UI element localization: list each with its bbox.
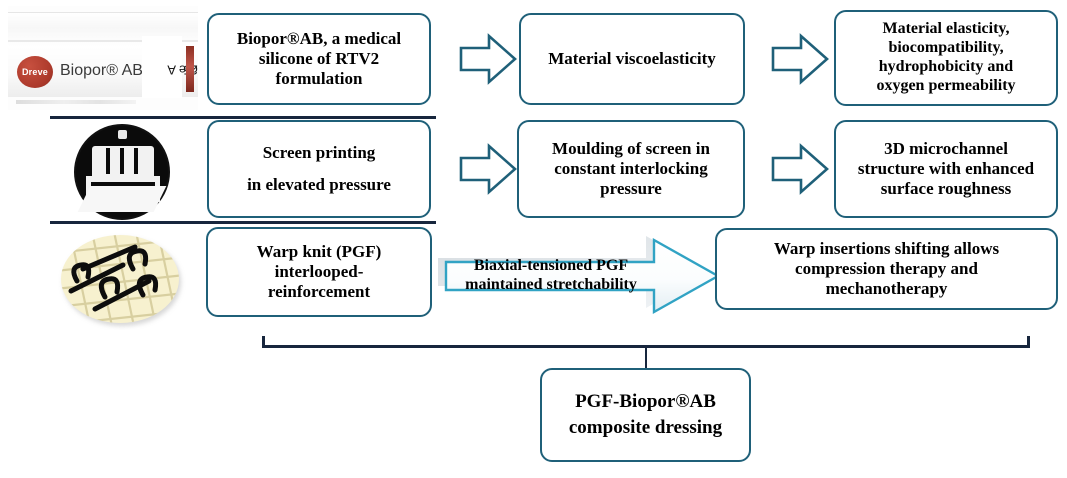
stage-box-r2c1[interactable]: Screen printing in elevated pressure <box>207 120 431 218</box>
stage-box-r3c2-text: Warp insertions shifting allows compress… <box>725 239 1048 299</box>
stage-box-r3c2[interactable]: Warp insertions shifting allows compress… <box>715 228 1058 310</box>
stage-box-r2c3[interactable]: 3D microchannel structure with enhanced … <box>834 120 1058 218</box>
dreve-logo-icon: Dreve <box>17 56 53 88</box>
screen-slit-left <box>106 148 110 174</box>
stage-box-r2c2[interactable]: Moulding of screen in constant interlock… <box>517 120 745 218</box>
flow-diagram: Dreve Biopor® AB 25 Shore A Biopor®AB, a… <box>0 0 1067 478</box>
labeled-arrow-text: Biaxial-tensioned PGF maintained stretch… <box>448 256 654 294</box>
biopor-tube-photo: Dreve Biopor® AB 25 Shore A <box>8 6 198 110</box>
press-knob-icon <box>118 130 127 139</box>
arrow-right-icon-r2a <box>459 143 517 195</box>
result-box-text: PGF-Biopor®AB composite dressing <box>550 389 741 440</box>
stage-box-r3c1-text: Warp knit (PGF) interlooped- reinforceme… <box>216 242 422 302</box>
stage-box-r2c1-text: Screen printing in elevated pressure <box>217 137 421 202</box>
labeled-arrow-biaxial-tension: Biaxial-tensioned PGF maintained stretch… <box>432 234 722 318</box>
bracket-tick-left <box>262 336 265 348</box>
arrow-right-icon-r2b <box>771 143 829 195</box>
stage-box-r2c3-text: 3D microchannel structure with enhanced … <box>844 139 1048 199</box>
result-box[interactable]: PGF-Biopor®AB composite dressing <box>540 368 751 462</box>
screen-printing-disc <box>74 124 170 220</box>
knit-mesh-blob <box>61 235 179 323</box>
row-separator-2 <box>50 221 436 224</box>
row-separator-1 <box>50 116 436 119</box>
bracket-tick-right <box>1027 336 1030 348</box>
arrow-right-icon-r1b <box>771 33 829 85</box>
arrow-right-icon-r1a <box>459 33 517 85</box>
shore-hardness-label: 25 Shore A <box>142 36 182 98</box>
stage-box-r1c3[interactable]: Material elasticity, biocompatibility, h… <box>834 10 1058 106</box>
warp-knit-mesh-image <box>52 228 188 330</box>
stage-box-r1c2-text: Material viscoelasticity <box>529 49 735 69</box>
stage-box-r1c1[interactable]: Biopor®AB, a medical silicone of RTV2 fo… <box>207 13 431 105</box>
screen-slit-mid <box>120 148 124 174</box>
squeegee-bar <box>86 176 160 182</box>
stage-box-r1c1-text: Biopor®AB, a medical silicone of RTV2 fo… <box>217 29 421 89</box>
stage-box-r3c1[interactable]: Warp knit (PGF) interlooped- reinforceme… <box>206 227 432 317</box>
printed-sheet <box>78 186 167 212</box>
stage-box-r1c2[interactable]: Material viscoelasticity <box>519 13 745 105</box>
screen-printing-icon <box>58 120 182 220</box>
product-brand-label: Biopor® AB <box>60 62 143 80</box>
convergence-bracket <box>262 336 1030 370</box>
tube-color-stripe <box>186 46 194 92</box>
stage-box-r2c2-text: Moulding of screen in constant interlock… <box>527 139 735 199</box>
screen-slit-right <box>134 148 138 174</box>
tube-fineprint <box>16 100 136 104</box>
stage-box-r1c3-text: Material elasticity, biocompatibility, h… <box>844 20 1048 96</box>
